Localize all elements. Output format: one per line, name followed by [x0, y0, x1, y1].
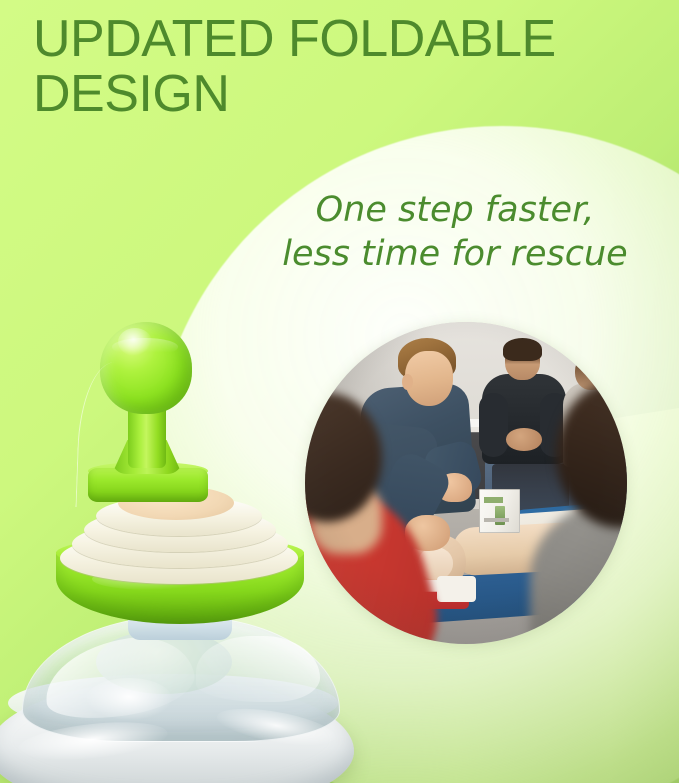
subheading: One step faster, less time for rescue — [240, 188, 670, 276]
device-knob-highlight — [118, 328, 152, 356]
device-dome-highlight-right — [196, 636, 320, 702]
page-title: UPDATED FOLDABLE DESIGN — [33, 12, 663, 122]
product-marketing-banner: UPDATED FOLDABLE DESIGN One step faster,… — [0, 0, 679, 783]
device-dome-highlight-center — [86, 678, 172, 720]
product-device — [0, 300, 370, 780]
device-reflection-line — [75, 361, 137, 509]
